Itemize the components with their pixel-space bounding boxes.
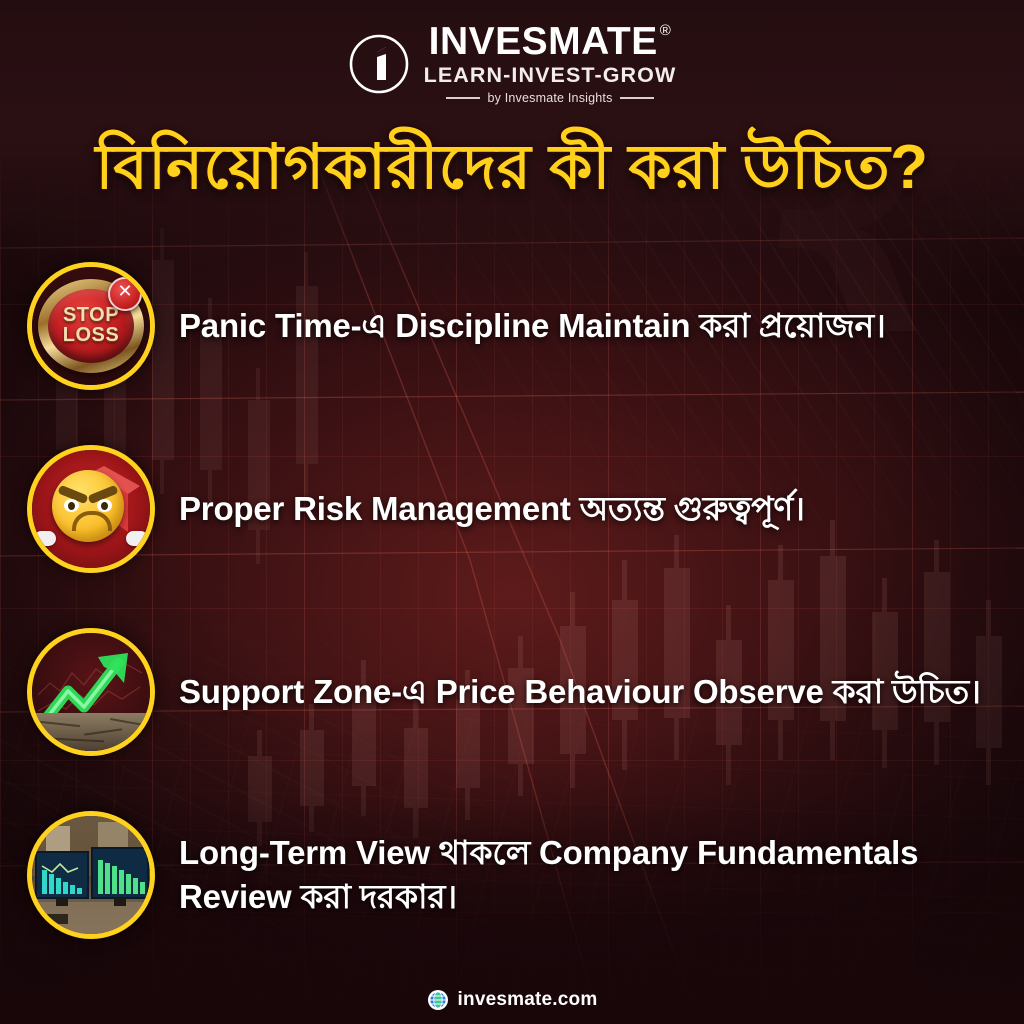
- brand-tagline: by Invesmate Insights: [487, 91, 612, 105]
- tagline-dash-left: [446, 97, 480, 99]
- brand-text-block: INVESMATE ® LEARN-INVEST-GROW by Invesma…: [424, 22, 677, 105]
- brand-tagline-row: by Invesmate Insights: [446, 91, 653, 105]
- list-item: Support Zone-এ Price Behaviour Observe ক…: [0, 628, 1024, 756]
- green-upward-arrow-icon: [27, 628, 155, 756]
- website-label: invesmate.com: [458, 989, 598, 1011]
- stop-loss-label-line2: LOSS: [63, 326, 119, 346]
- angry-face-emoji-icon: [27, 445, 155, 573]
- close-x-badge-icon: ✕: [108, 277, 142, 311]
- list-item: Proper Risk Management অত্যন্ত গুরুত্বপূ…: [0, 445, 1024, 573]
- bullet-list: STOP LOSS ✕ Panic Time-এ Discipline Main…: [0, 262, 1024, 939]
- brand-header: INVESMATE ® LEARN-INVEST-GROW by Invesma…: [0, 22, 1024, 105]
- page-title: বিনিয়োগকারীদের কী করা উচিত?: [0, 132, 1024, 203]
- list-item-label: Panic Time-এ Discipline Maintain করা প্র…: [179, 304, 926, 348]
- footer: invesmate.com: [0, 989, 1024, 1011]
- registered-mark-icon: ®: [660, 23, 672, 38]
- brand-subtitle: LEARN-INVEST-GROW: [424, 63, 677, 88]
- globe-icon: [427, 989, 449, 1011]
- tagline-dash-right: [620, 97, 654, 99]
- list-item-label: Proper Risk Management অত্যন্ত গুরুত্বপূ…: [179, 487, 845, 531]
- poster-canvas: ₹ INVESMATE ® LEARN-INVEST-GROW by Inves…: [0, 0, 1024, 1024]
- list-item-label: Long-Term View থাকলে Company Fundamental…: [179, 831, 1024, 918]
- invesmate-i-logo-icon: [348, 33, 410, 95]
- trading-desk-monitors-icon: [27, 811, 155, 939]
- list-item-label: Support Zone-এ Price Behaviour Observe ক…: [179, 670, 1021, 714]
- stop-loss-button-icon: STOP LOSS ✕: [27, 262, 155, 390]
- brand-name-row: INVESMATE ®: [429, 22, 672, 61]
- brand-name: INVESMATE: [429, 22, 658, 61]
- list-item: Long-Term View থাকলে Company Fundamental…: [0, 811, 1024, 939]
- list-item: STOP LOSS ✕ Panic Time-এ Discipline Main…: [0, 262, 1024, 390]
